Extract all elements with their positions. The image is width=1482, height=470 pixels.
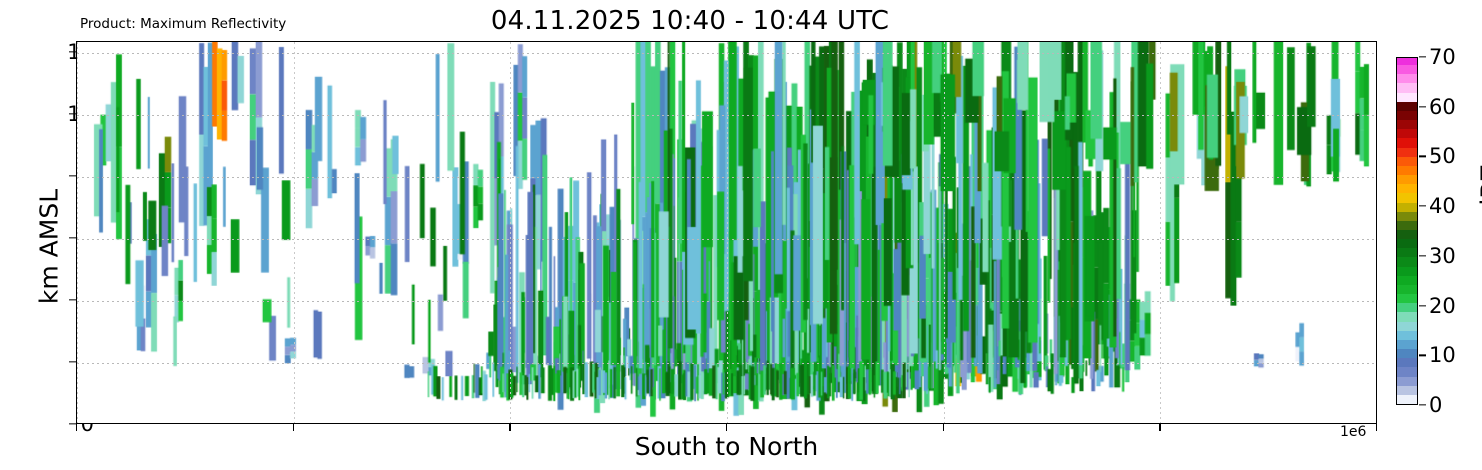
colorbar-tick-mark: [1419, 205, 1426, 206]
y-tick-mark: [69, 175, 76, 176]
colorbar-segment: [1397, 248, 1417, 258]
x-tick-mark: [76, 424, 77, 431]
y-tick-mark: [69, 361, 76, 362]
colorbar-segment: [1397, 339, 1417, 349]
colorbar-tick-mark: [1419, 156, 1426, 157]
y-tick-mark: [69, 113, 76, 114]
colorbar-segment: [1397, 220, 1417, 230]
x-tick-mark: [509, 424, 510, 431]
radar-cross-section-figure: Product: Maximum Reflectivity 04.11.2025…: [0, 0, 1482, 470]
colorbar-segment: [1397, 266, 1417, 276]
colorbar-segment: [1397, 376, 1417, 386]
y-axis-label: km AMSL: [35, 152, 64, 342]
colorbar-segment: [1397, 211, 1417, 221]
colorbar-label: dBZ: [1476, 130, 1482, 250]
colorbar-segment: [1397, 229, 1417, 239]
plot-area: [76, 41, 1377, 424]
colorbar-segment: [1397, 321, 1417, 331]
colorbar-tick-mark: [1419, 355, 1426, 356]
colorbar-segment: [1397, 385, 1417, 395]
colorbar-segment: [1397, 74, 1417, 84]
colorbar-segment: [1397, 330, 1417, 340]
colorbar-segment: [1397, 147, 1417, 157]
colorbar-tick-label: 30: [1429, 244, 1456, 268]
colorbar-segment: [1397, 275, 1417, 285]
x-tick-mark: [1376, 424, 1377, 431]
y-tick-mark: [69, 423, 76, 424]
colorbar-segment: [1397, 138, 1417, 148]
y-tick-mark: [69, 237, 76, 238]
colorbar-segment: [1397, 312, 1417, 322]
colorbar-segment: [1397, 394, 1417, 404]
colorbar-tick-mark: [1419, 106, 1426, 107]
x-tick-mark: [1159, 424, 1160, 431]
colorbar-segment: [1397, 110, 1417, 120]
colorbar-segment: [1397, 83, 1417, 93]
colorbar-segment: [1397, 193, 1417, 203]
colorbar-tick-label: 50: [1429, 144, 1456, 168]
colorbar-segment: [1397, 174, 1417, 184]
colorbar-tick-label: 20: [1429, 294, 1456, 318]
y-tick-mark: [69, 299, 76, 300]
colorbar-segment: [1397, 184, 1417, 194]
x-tick-mark: [943, 424, 944, 431]
colorbar-tick-label: 10: [1429, 343, 1456, 367]
colorbar-segment: [1397, 202, 1417, 212]
colorbar-segment: [1397, 257, 1417, 267]
colorbar-tick-label: 60: [1429, 95, 1456, 119]
colorbar-tick-label: 70: [1429, 45, 1456, 69]
colorbar-segment: [1397, 92, 1417, 102]
colorbar-segment: [1397, 367, 1417, 377]
colorbar-tick-mark: [1419, 56, 1426, 57]
x-axis-offset-text: 1e6: [1340, 424, 1366, 440]
colorbar-tick-label: 40: [1429, 194, 1456, 218]
colorbar: [1396, 57, 1418, 405]
colorbar-tick-mark: [1419, 305, 1426, 306]
colorbar-segment: [1397, 156, 1417, 166]
colorbar-segment: [1397, 65, 1417, 75]
colorbar-tick-mark: [1419, 255, 1426, 256]
colorbar-segment: [1397, 284, 1417, 294]
x-axis-label: South to North: [76, 432, 1377, 461]
colorbar-segment: [1397, 348, 1417, 358]
colorbar-segment: [1397, 120, 1417, 130]
colorbar-segment: [1397, 303, 1417, 313]
reflectivity-field: [77, 42, 1376, 423]
colorbar-segment: [1397, 294, 1417, 304]
colorbar-segment: [1397, 358, 1417, 368]
page-title: 04.11.2025 10:40 - 10:44 UTC: [0, 6, 1380, 36]
x-tick-mark: [726, 424, 727, 431]
colorbar-tick-label: 0: [1429, 393, 1442, 417]
colorbar-segment: [1397, 101, 1417, 111]
x-tick-mark: [293, 424, 294, 431]
colorbar-segment: [1397, 165, 1417, 175]
colorbar-segment: [1397, 57, 1417, 65]
colorbar-tick-mark: [1419, 404, 1426, 405]
colorbar-segment: [1397, 239, 1417, 249]
y-tick-mark: [69, 51, 76, 52]
colorbar-segment: [1397, 129, 1417, 139]
